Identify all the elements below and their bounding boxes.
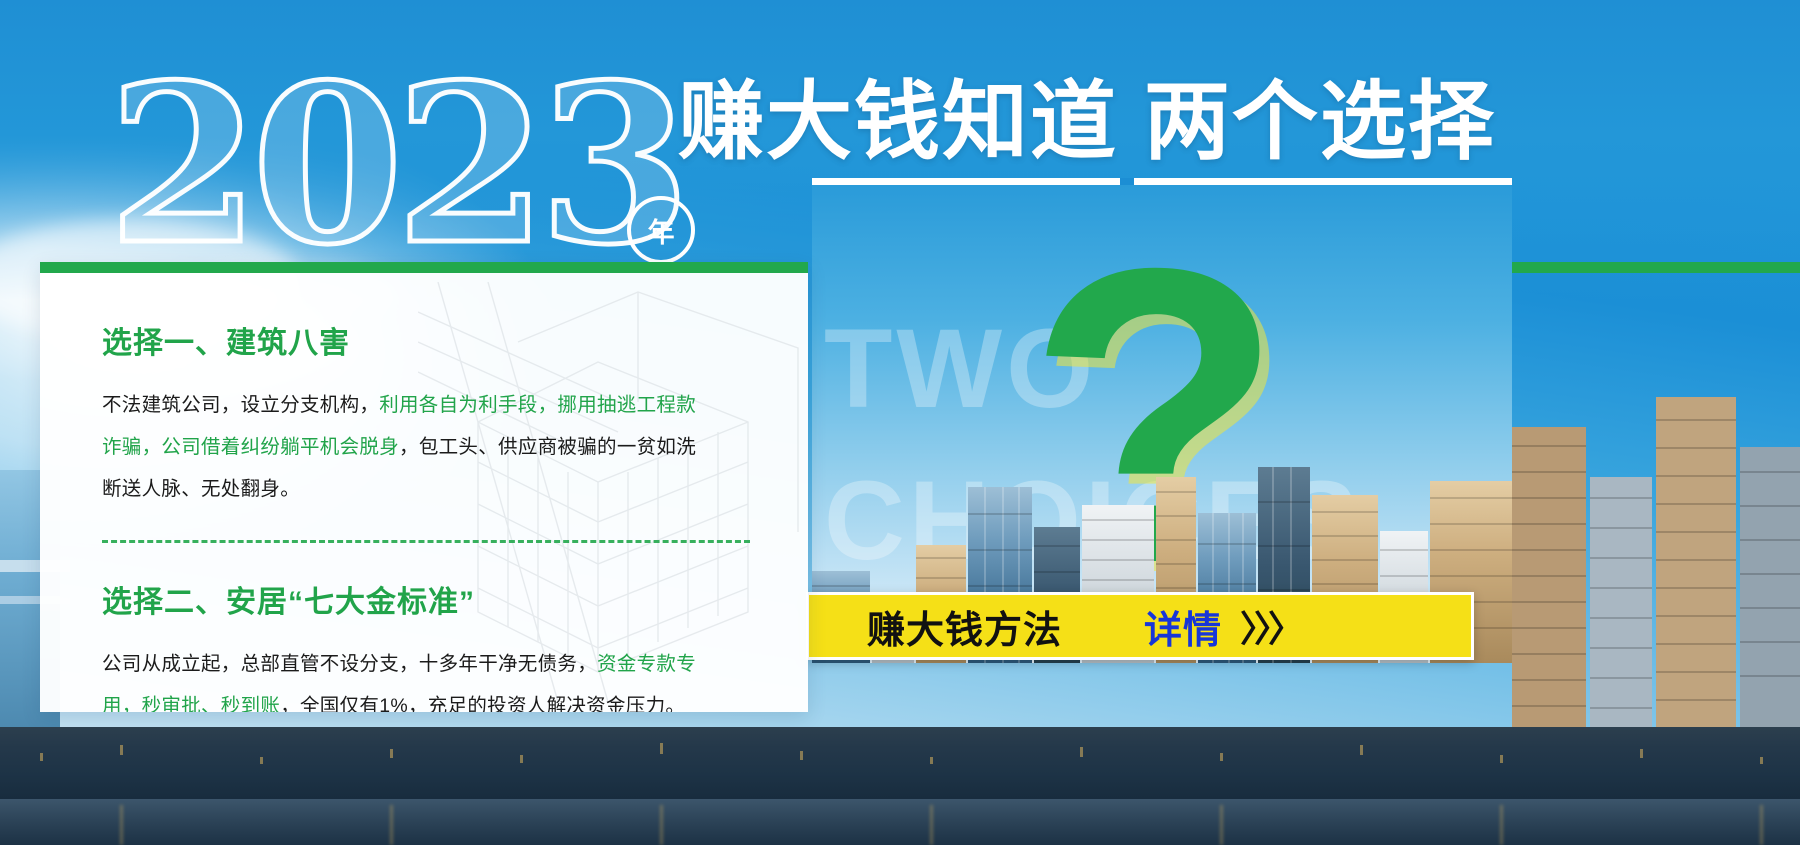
bottom-city-strip xyxy=(0,727,1800,845)
section-1-body: 不法建筑公司，设立分支机构，利用各自为利手段，挪用抽逃工程款 诈骗，公司借着纠纷… xyxy=(102,384,750,510)
section-divider xyxy=(102,540,750,543)
background-building xyxy=(1740,447,1800,727)
headline-rule xyxy=(812,178,1512,185)
year-unit-badge: 年 xyxy=(627,196,695,264)
background-building xyxy=(1590,477,1652,727)
headline-rule-gap xyxy=(1120,178,1134,185)
text-run: ，包工头、供应商被骗的一贫如洗 xyxy=(399,436,696,458)
section-2-line-2: 用，秒审批、秒到账，全国仅有1%，充足的投资人解决资金压力。 xyxy=(102,685,750,712)
section-2-body: 公司从成立起，总部直管不设分支，十多年干净无债务，资金专款专 用，秒审批、秒到账… xyxy=(102,643,750,712)
section-1-line-3: 断送人脉、无处翻身。 xyxy=(102,468,750,510)
cta-banner[interactable]: 赚大钱方法 详情 〉〉〉 xyxy=(806,592,1474,660)
text-run: 公司从成立起，总部直管不设分支，十多年干净无债务， xyxy=(102,653,597,675)
text-run: ，全国仅有1%，充足的投资人解决资金压力。 xyxy=(280,695,685,712)
promo-banner: 2023 2023 年 赚大钱知道 两个选择 TWO CHOICES ? xyxy=(0,0,1800,845)
section-1-line-1: 不法建筑公司，设立分支机构，利用各自为利手段，挪用抽逃工程款 xyxy=(102,384,750,426)
headline-rule-right xyxy=(1468,178,1512,185)
text-run: 断送人脉、无处翻身。 xyxy=(102,478,300,500)
section-1-title: 选择一、建筑八害 xyxy=(102,318,750,362)
text-run-accent: 资金专款专 xyxy=(597,653,696,675)
green-accent-bar-right xyxy=(1490,262,1800,273)
chevron-right-triple-icon: 〉〉〉 xyxy=(1240,600,1300,652)
cta-details-link[interactable]: 详情 xyxy=(1144,599,1222,654)
background-building xyxy=(1512,427,1586,727)
water-reflection xyxy=(0,799,1800,845)
section-2-line-1: 公司从成立起，总部直管不设分支，十多年干净无债务，资金专款专 xyxy=(102,643,750,685)
text-run-accent: 利用各自为利手段，挪用抽逃工程款 xyxy=(379,394,696,416)
text-run-accent: 诈骗，公司借着纠纷躺平机会脱身 xyxy=(102,436,399,458)
page-title: 赚大钱知道 两个选择 xyxy=(678,74,1496,170)
section-2-title: 选择二、安居“七大金标准” xyxy=(102,577,750,621)
section-1-line-2: 诈骗，公司借着纠纷躺平机会脱身，包工头、供应商被骗的一贫如洗 xyxy=(102,426,750,468)
text-run: 不法建筑公司，设立分支机构， xyxy=(102,394,379,416)
content-card: 选择一、建筑八害 不法建筑公司，设立分支机构，利用各自为利手段，挪用抽逃工程款 … xyxy=(40,262,808,712)
card-content: 选择一、建筑八害 不法建筑公司，设立分支机构，利用各自为利手段，挪用抽逃工程款 … xyxy=(40,262,808,712)
text-run-accent: 用，秒审批、秒到账 xyxy=(102,695,280,712)
cta-main-label: 赚大钱方法 xyxy=(867,599,1062,654)
background-building xyxy=(1656,397,1736,727)
year-numerals: 2023 xyxy=(108,56,683,274)
